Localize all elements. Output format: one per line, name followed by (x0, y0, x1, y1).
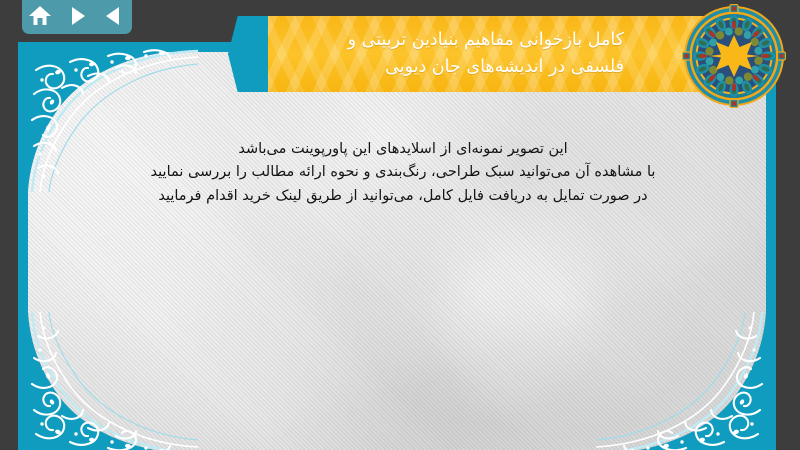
previous-slide-button[interactable] (101, 3, 127, 29)
slide-title-banner: کامل بازخوانی مفاهیم بنیادین تربیتی و فل… (268, 16, 710, 92)
body-line-2: با مشاهده آن می‌توانید سبک طراحی، رنگ‌بن… (58, 161, 748, 184)
slide-viewer: این تصویر نمونه‌ای از اسلایدهای این پاور… (0, 0, 800, 450)
slide-content-area (28, 52, 766, 450)
circular-medallion-ornament (682, 4, 786, 108)
navigation-toolbar (22, 0, 132, 34)
slide-body-text: این تصویر نمونه‌ای از اسلایدهای این پاور… (58, 138, 748, 208)
body-line-1: این تصویر نمونه‌ای از اسلایدهای این پاور… (58, 138, 748, 161)
page-title: کامل بازخوانی مفاهیم بنیادین تربیتی و فل… (278, 27, 624, 81)
background-texture (28, 52, 766, 450)
body-line-3: در صورت تمایل به دریافت فایل کامل، می‌تو… (58, 185, 748, 208)
presentation-slide: این تصویر نمونه‌ای از اسلایدهای این پاور… (18, 42, 776, 450)
home-button[interactable] (27, 3, 53, 29)
triangle-right-icon (66, 6, 88, 26)
triangle-left-icon (103, 6, 125, 26)
next-slide-button[interactable] (64, 3, 90, 29)
home-icon (28, 5, 52, 27)
